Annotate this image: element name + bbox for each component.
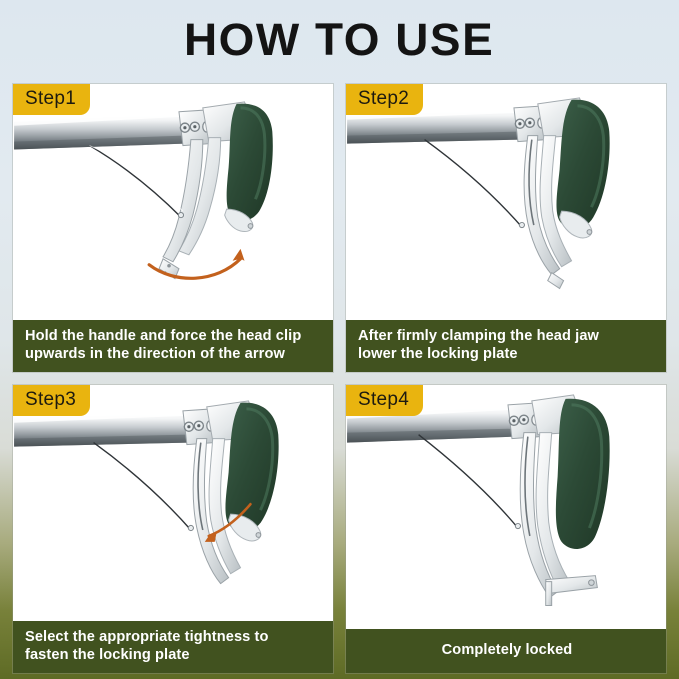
step-caption-4: Completely locked — [346, 629, 666, 673]
step-badge-1: Step1 — [13, 84, 90, 115]
step-caption-2: After firmly clamping the head jaw lower… — [346, 320, 666, 372]
steps-grid: Step1 Hold the handle and force the head… — [13, 84, 666, 673]
step-badge-2: Step2 — [346, 84, 423, 115]
step-panel-3: 1 2 3 Step3 Select the appropriate tight… — [13, 385, 333, 673]
step-badge-3: Step3 — [13, 385, 90, 416]
step-caption-1: Hold the handle and force the head clip … — [13, 320, 333, 372]
how-to-use-infographic: HOW TO USE — [0, 0, 679, 679]
caption-line: Select the appropriate tightness to — [25, 628, 323, 647]
step-panel-2: Step2 After firmly clamping the head jaw… — [346, 84, 666, 372]
caption-line: Completely locked — [442, 641, 573, 660]
caption-line: Hold the handle and force the head clip — [25, 327, 323, 346]
caption-line: fasten the locking plate — [25, 646, 323, 665]
caption-line: lower the locking plate — [358, 345, 656, 364]
page-title: HOW TO USE — [184, 14, 494, 66]
caption-line: After firmly clamping the head jaw — [358, 327, 656, 346]
step-caption-3: Select the appropriate tightness to fast… — [13, 621, 333, 673]
step-badge-4: Step4 — [346, 385, 423, 416]
caption-line: upwards in the direction of the arrow — [25, 345, 323, 364]
page-title-container: HOW TO USE — [0, 0, 679, 80]
step-panel-1: Step1 Hold the handle and force the head… — [13, 84, 333, 372]
step-panel-4: Step4 Completely locked — [346, 385, 666, 673]
